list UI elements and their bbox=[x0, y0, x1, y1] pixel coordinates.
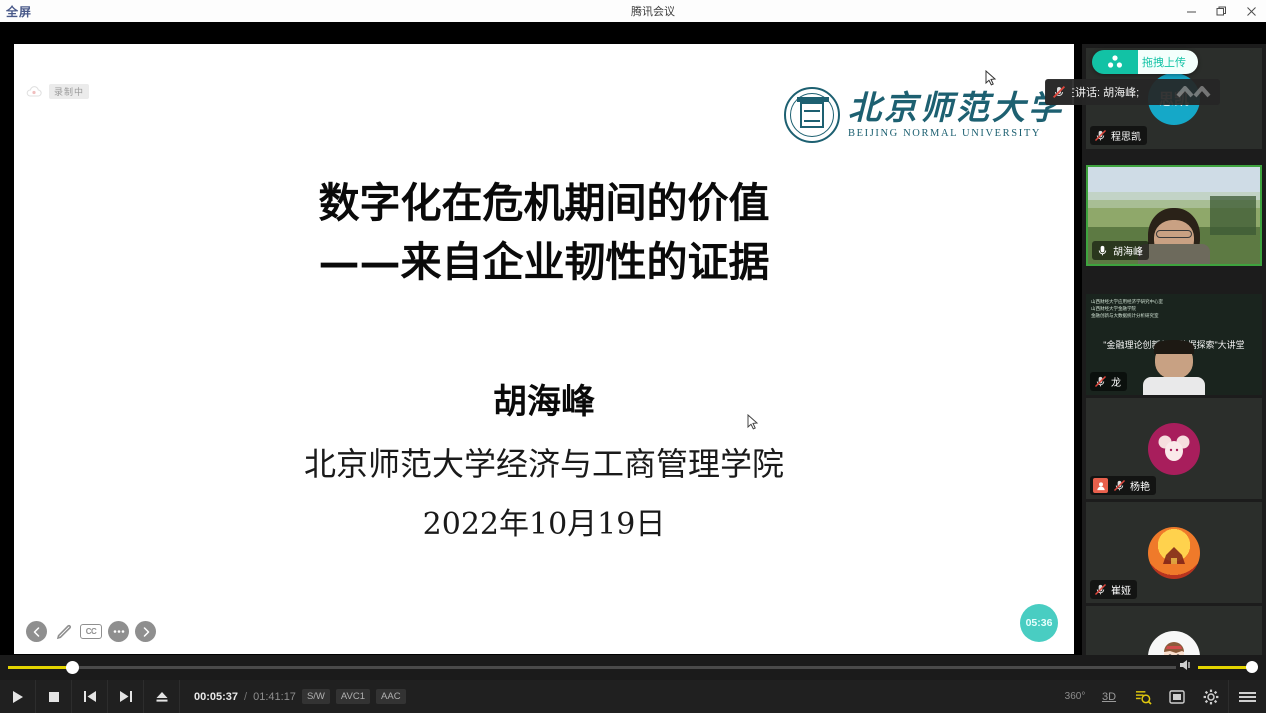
skip-forward-icon[interactable] bbox=[108, 680, 144, 713]
close-icon[interactable] bbox=[1236, 0, 1266, 22]
speaker-icon[interactable] bbox=[1178, 658, 1194, 677]
participant-name-1: 胡海峰 bbox=[1113, 243, 1143, 258]
slide-title-line2: ——来自企业韧性的证据 bbox=[14, 233, 1074, 292]
time-display: 00:05:37 / 01:41:17 S/W AVC1 AAC bbox=[180, 680, 420, 713]
screen-icon[interactable] bbox=[1160, 680, 1194, 713]
participant-name-chip-1: 胡海峰 bbox=[1092, 241, 1149, 260]
video-codec-tag: AVC1 bbox=[336, 689, 370, 704]
slide-title-line1: 数字化在危机期间的价值 bbox=[14, 174, 1074, 233]
drag-upload-label: 拖拽上传 bbox=[1138, 54, 1198, 70]
logo-chinese-name: 北京师范大学 bbox=[848, 91, 1064, 126]
cc-icon[interactable]: CC bbox=[80, 624, 102, 639]
arrow-right-icon[interactable] bbox=[135, 621, 156, 642]
presenter-toolbar[interactable]: CC bbox=[26, 621, 156, 642]
current-time: 00:05:37 bbox=[194, 691, 238, 703]
window-title: 腾讯会议 bbox=[160, 3, 1146, 19]
video-stage[interactable]: 录制中 北京师范大学 BEIJING NORMAL UNIVERSITY 数字化… bbox=[0, 22, 1266, 655]
mic-muted-icon bbox=[1093, 583, 1107, 597]
player-toolbar[interactable]: 00:05:37 / 01:41:17 S/W AVC1 AAC 360° 3D bbox=[0, 680, 1266, 713]
hamburger-icon[interactable] bbox=[1228, 680, 1266, 713]
participant-name-4: 崔娅 bbox=[1111, 582, 1131, 597]
slide-title: 数字化在危机期间的价值 ——来自企业韧性的证据 bbox=[14, 174, 1074, 293]
participant-name-chip-4: 崔娅 bbox=[1090, 580, 1137, 599]
floating-mic-muted-icon bbox=[1046, 80, 1072, 104]
volume-fill bbox=[1198, 666, 1252, 669]
gear-icon[interactable] bbox=[1194, 680, 1228, 713]
shared-screen[interactable]: 录制中 北京师范大学 BEIJING NORMAL UNIVERSITY 数字化… bbox=[14, 22, 1074, 655]
time-separator: / bbox=[244, 691, 247, 703]
view-360-button[interactable]: 360° bbox=[1058, 680, 1092, 713]
recording-label: 录制中 bbox=[49, 84, 89, 99]
participant-silhouette bbox=[1148, 208, 1200, 264]
restore-icon[interactable] bbox=[1206, 0, 1236, 22]
seek-handle[interactable] bbox=[66, 661, 79, 674]
participant-tile-3[interactable]: 杨艳 bbox=[1086, 398, 1262, 499]
volume-control[interactable] bbox=[1178, 655, 1266, 680]
fullscreen-label: 全屏 bbox=[0, 3, 160, 20]
participant-name-chip-2: 龙 bbox=[1090, 372, 1127, 391]
play-icon[interactable] bbox=[0, 680, 36, 713]
eject-icon[interactable] bbox=[144, 680, 180, 713]
avatar bbox=[1148, 527, 1200, 579]
volume-handle[interactable] bbox=[1246, 661, 1258, 673]
info-search-icon[interactable] bbox=[1126, 680, 1160, 713]
view-3d-button[interactable]: 3D bbox=[1092, 680, 1126, 713]
participant-tile-1[interactable]: 胡海峰 bbox=[1086, 165, 1262, 266]
mouse-cursor-top bbox=[985, 70, 997, 86]
university-logo: 北京师范大学 BEIJING NORMAL UNIVERSITY bbox=[784, 87, 1064, 143]
audio-codec-tag: AAC bbox=[376, 689, 406, 704]
seek-bar[interactable] bbox=[8, 655, 1178, 680]
recording-indicator: 录制中 bbox=[26, 84, 89, 99]
participant-name-0: 程思凯 bbox=[1111, 128, 1141, 143]
minimize-icon[interactable] bbox=[1176, 0, 1206, 22]
progress-row bbox=[0, 655, 1266, 680]
participant-name-chip-0: 程思凯 bbox=[1090, 126, 1147, 145]
participant-tile-2[interactable]: 山西财经大学应用经济学研究中心室 山西财经大学金融学院 金融创新与大数据统计分析… bbox=[1086, 294, 1262, 395]
volume-track[interactable] bbox=[1198, 666, 1258, 669]
seek-track[interactable] bbox=[8, 666, 1176, 669]
seek-fill bbox=[8, 666, 72, 669]
bnu-seal-icon bbox=[784, 87, 840, 143]
cloud-share-icon bbox=[1092, 50, 1138, 74]
window-controls bbox=[1146, 0, 1266, 22]
participant-tile-4[interactable]: 崔娅 bbox=[1086, 502, 1262, 603]
logo-english-name: BEIJING NORMAL UNIVERSITY bbox=[848, 128, 1064, 139]
skip-back-icon[interactable] bbox=[72, 680, 108, 713]
window-titlebar: 全屏 腾讯会议 bbox=[0, 0, 1266, 22]
decoder-tag: S/W bbox=[302, 689, 330, 704]
chevron-collapse-icon[interactable] bbox=[1176, 85, 1212, 104]
avatar bbox=[1148, 423, 1200, 475]
participant-silhouette bbox=[1152, 343, 1196, 395]
slide-date: 2022年10月19日 bbox=[14, 499, 1074, 543]
stop-icon[interactable] bbox=[36, 680, 72, 713]
arrow-left-icon[interactable] bbox=[26, 621, 47, 642]
tile-banner-lines: 山西财经大学应用经济学研究中心室 山西财经大学金融学院 金融创新与大数据统计分析… bbox=[1091, 298, 1163, 320]
slide-affiliation: 北京师范大学经济与工商管理学院 bbox=[14, 439, 1074, 485]
mic-muted-icon bbox=[1093, 129, 1107, 143]
participant-name-2: 龙 bbox=[1111, 374, 1121, 389]
participant-name-3: 杨艳 bbox=[1130, 478, 1150, 493]
slide-author: 胡海峰 bbox=[14, 374, 1074, 423]
total-time: 01:41:17 bbox=[253, 691, 296, 703]
mic-muted-icon bbox=[1093, 375, 1107, 389]
participant-name-chip-3: 杨艳 bbox=[1090, 476, 1156, 495]
mic-active-icon bbox=[1095, 244, 1109, 258]
participant-rail[interactable]: 思凯 程思凯 bbox=[1082, 44, 1266, 677]
presentation-timer: 05:36 bbox=[1020, 604, 1058, 642]
pen-icon[interactable] bbox=[53, 621, 74, 642]
ellipsis-icon[interactable] bbox=[108, 621, 129, 642]
mic-muted-icon bbox=[1112, 479, 1126, 493]
host-icon bbox=[1093, 478, 1108, 493]
mouse-cursor-slide bbox=[747, 414, 759, 430]
drag-upload-button[interactable]: 拖拽上传 bbox=[1092, 50, 1198, 74]
media-player-window: 全屏 腾讯会议 bbox=[0, 0, 1266, 713]
presentation-slide: 录制中 北京师范大学 BEIJING NORMAL UNIVERSITY 数字化… bbox=[14, 44, 1074, 654]
cloud-icon bbox=[26, 86, 42, 98]
